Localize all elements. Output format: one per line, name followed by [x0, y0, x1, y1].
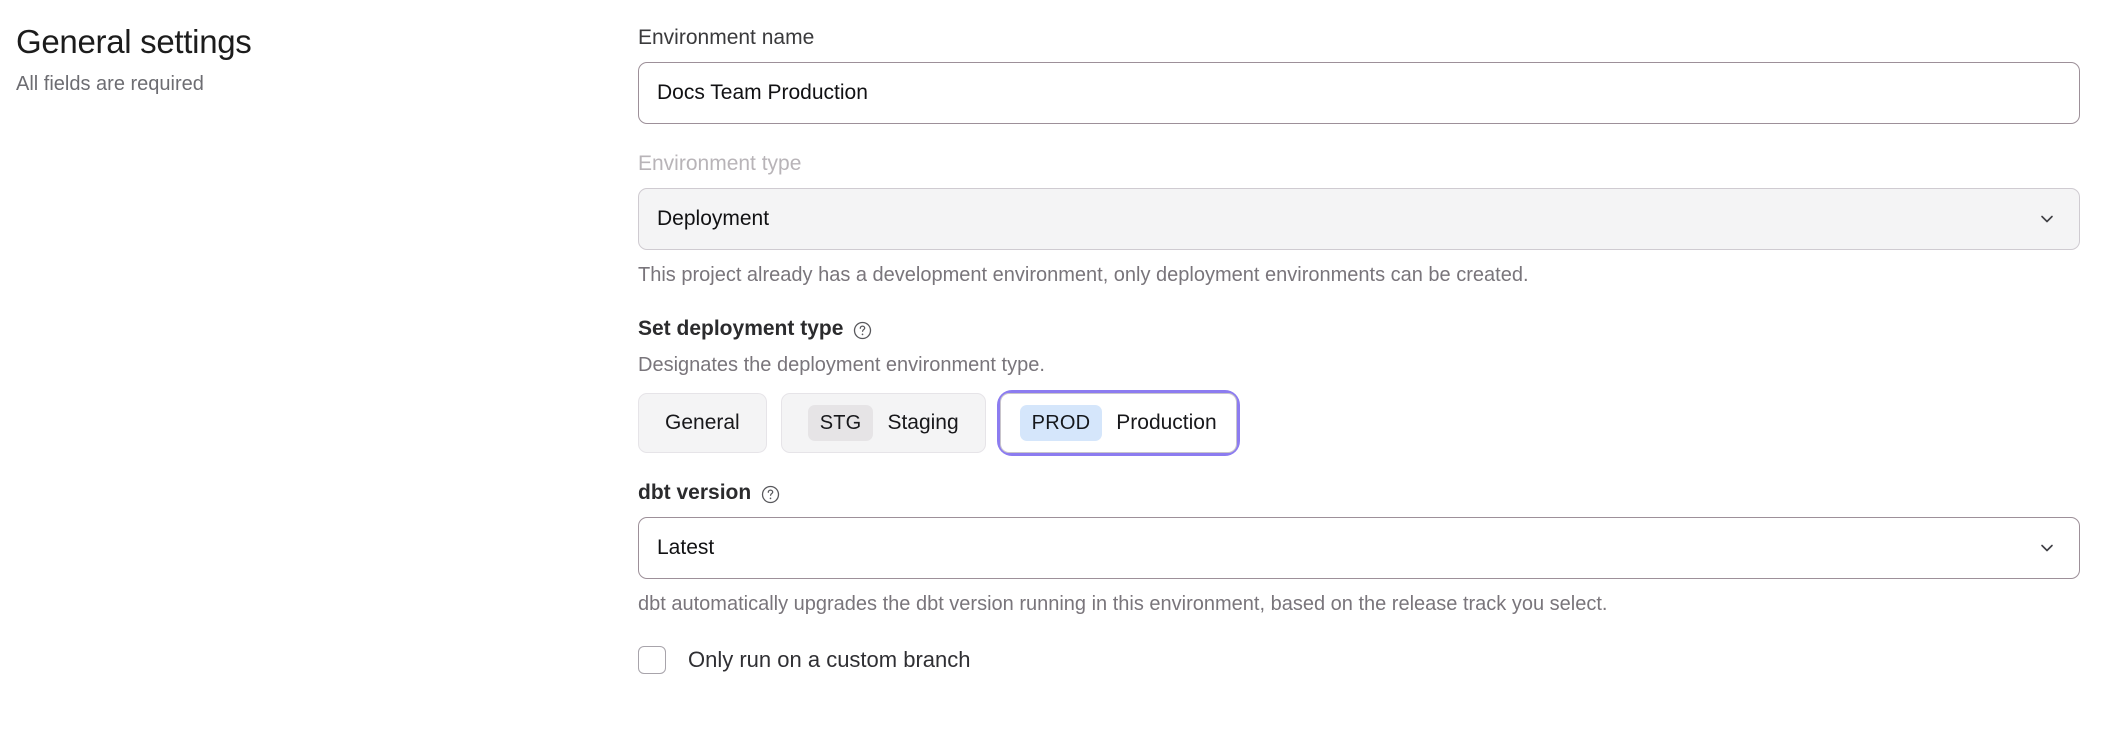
environment-type-field: Environment type Deployment This project… — [638, 150, 2080, 289]
deployment-type-field: Set deployment type Designates the deplo… — [638, 315, 2080, 453]
environment-name-label: Environment name — [638, 24, 2080, 52]
environment-type-note: This project already has a development e… — [638, 262, 2080, 289]
page-subtitle: All fields are required — [16, 71, 576, 97]
environment-type-value: Deployment — [657, 207, 769, 231]
custom-branch-row[interactable]: Only run on a custom branch — [638, 646, 2080, 674]
settings-intro: General settings All fields are required — [16, 22, 576, 97]
custom-branch-label: Only run on a custom branch — [688, 646, 970, 674]
spacer — [638, 453, 2080, 479]
question-circle-icon[interactable] — [760, 484, 781, 505]
staging-badge: STG — [808, 405, 874, 441]
general-settings-form: Environment name Docs Team Production En… — [638, 24, 2080, 674]
environment-name-input[interactable]: Docs Team Production — [638, 62, 2080, 124]
spacer — [638, 124, 2080, 150]
environment-name-value: Docs Team Production — [657, 81, 868, 105]
deployment-type-label-text: Set deployment type — [638, 315, 843, 343]
deployment-type-option-production-label: Production — [1116, 411, 1216, 435]
dbt-version-value: Latest — [657, 536, 714, 560]
dbt-version-field: dbt version Latest dbt automatica — [638, 479, 2080, 618]
chevron-down-icon — [2037, 538, 2057, 558]
deployment-type-option-general[interactable]: General — [638, 393, 767, 453]
page-title: General settings — [16, 22, 576, 62]
general-settings-page: General settings All fields are required… — [0, 0, 2110, 742]
deployment-type-option-production-inner: PROD Production — [1000, 393, 1237, 453]
environment-type-select[interactable]: Deployment — [638, 188, 2080, 250]
deployment-type-option-staging-label: Staging — [887, 411, 958, 435]
production-badge: PROD — [1020, 405, 1103, 441]
custom-branch-checkbox[interactable] — [638, 646, 666, 674]
environment-name-field: Environment name Docs Team Production — [638, 24, 2080, 124]
deployment-type-option-staging[interactable]: STG Staging — [781, 393, 986, 453]
dbt-version-select[interactable]: Latest — [638, 517, 2080, 579]
dbt-version-label: dbt version — [638, 479, 2080, 507]
deployment-type-options: General STG Staging PROD Production — [638, 393, 2080, 453]
deployment-type-option-general-label: General — [665, 411, 740, 435]
dbt-version-note: dbt automatically upgrades the dbt versi… — [638, 591, 2080, 618]
dbt-version-label-text: dbt version — [638, 479, 751, 507]
deployment-type-option-production[interactable]: PROD Production — [1000, 393, 1237, 453]
deployment-type-description: Designates the deployment environment ty… — [638, 352, 2080, 379]
environment-type-label: Environment type — [638, 150, 2080, 178]
deployment-type-label: Set deployment type — [638, 315, 2080, 343]
spacer — [638, 289, 2080, 315]
question-circle-icon[interactable] — [852, 320, 873, 341]
chevron-down-icon — [2037, 209, 2057, 229]
